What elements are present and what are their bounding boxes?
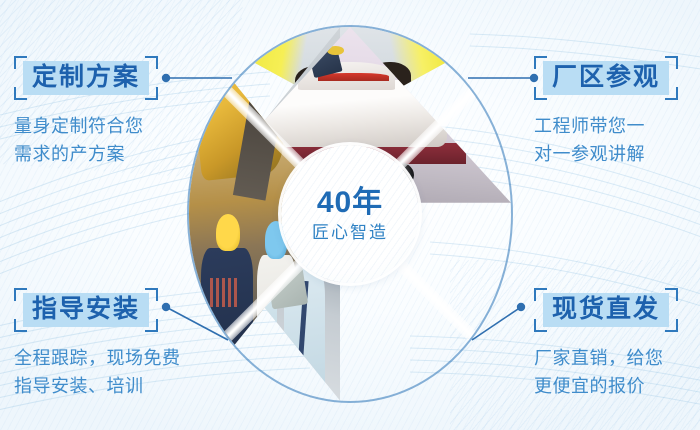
promo-banner: 40年 匠心智造 定制方案 量身定制符合您 需求的产方案: [0, 0, 700, 430]
feature-description-line: 全程跟踪，现场免费: [14, 345, 214, 373]
hub-years-label: 40年: [317, 188, 383, 218]
center-hub: 40年 匠心智造: [281, 145, 419, 283]
feature-in-stock-shipping[interactable]: 现货直发 厂家直销，给您 更便宜的报价: [534, 288, 700, 401]
feature-description-line: 指导安装、培训: [14, 373, 214, 401]
feature-description: 厂家直销，给您 更便宜的报价: [534, 345, 700, 401]
feature-title-frame: 指导安装: [14, 288, 158, 332]
feature-installation-guidance[interactable]: 指导安装 全程跟踪，现场免费 指导安装、培训: [14, 288, 214, 401]
bracket-corner-top-right-icon: [145, 56, 158, 69]
photo-wheel: 40年 匠心智造: [189, 27, 511, 401]
feature-custom-solution[interactable]: 定制方案 量身定制符合您 需求的产方案: [14, 56, 204, 169]
bracket-corner-bottom-left-icon: [534, 87, 547, 100]
bracket-corner-top-left-icon: [14, 56, 27, 69]
feature-description-line: 更便宜的报价: [534, 373, 700, 401]
feature-title-frame: 厂区参观: [534, 56, 678, 100]
feature-title: 现货直发: [543, 293, 669, 327]
bracket-corner-bottom-left-icon: [14, 319, 27, 332]
bracket-corner-top-left-icon: [534, 288, 547, 301]
feature-description-line: 需求的产方案: [14, 141, 204, 169]
bracket-corner-top-right-icon: [665, 288, 678, 301]
bracket-corner-bottom-right-icon: [665, 87, 678, 100]
hub-subtitle-label: 匠心智造: [312, 224, 388, 241]
bracket-corner-top-left-icon: [14, 288, 27, 301]
feature-title: 指导安装: [23, 293, 149, 327]
bracket-corner-bottom-right-icon: [665, 319, 678, 332]
bracket-corner-bottom-right-icon: [145, 87, 158, 100]
bracket-corner-top-right-icon: [665, 56, 678, 69]
feature-title-frame: 定制方案: [14, 56, 158, 100]
feature-title: 定制方案: [23, 61, 149, 95]
bracket-corner-bottom-right-icon: [145, 319, 158, 332]
feature-description: 工程师带您一 对一参观讲解: [534, 113, 700, 169]
feature-description-line: 厂家直销，给您: [534, 345, 700, 373]
feature-description: 全程跟踪，现场免费 指导安装、培训: [14, 345, 214, 401]
feature-description-line: 量身定制符合您: [14, 113, 204, 141]
bracket-corner-top-left-icon: [534, 56, 547, 69]
bracket-corner-bottom-left-icon: [534, 319, 547, 332]
feature-title-frame: 现货直发: [534, 288, 678, 332]
bracket-corner-bottom-left-icon: [14, 87, 27, 100]
feature-description-line: 对一参观讲解: [534, 141, 700, 169]
feature-description-line: 工程师带您一: [534, 113, 700, 141]
feature-title: 厂区参观: [543, 61, 669, 95]
feature-description: 量身定制符合您 需求的产方案: [14, 113, 204, 169]
bracket-corner-top-right-icon: [145, 288, 158, 301]
feature-factory-visit[interactable]: 厂区参观 工程师带您一 对一参观讲解: [534, 56, 700, 169]
